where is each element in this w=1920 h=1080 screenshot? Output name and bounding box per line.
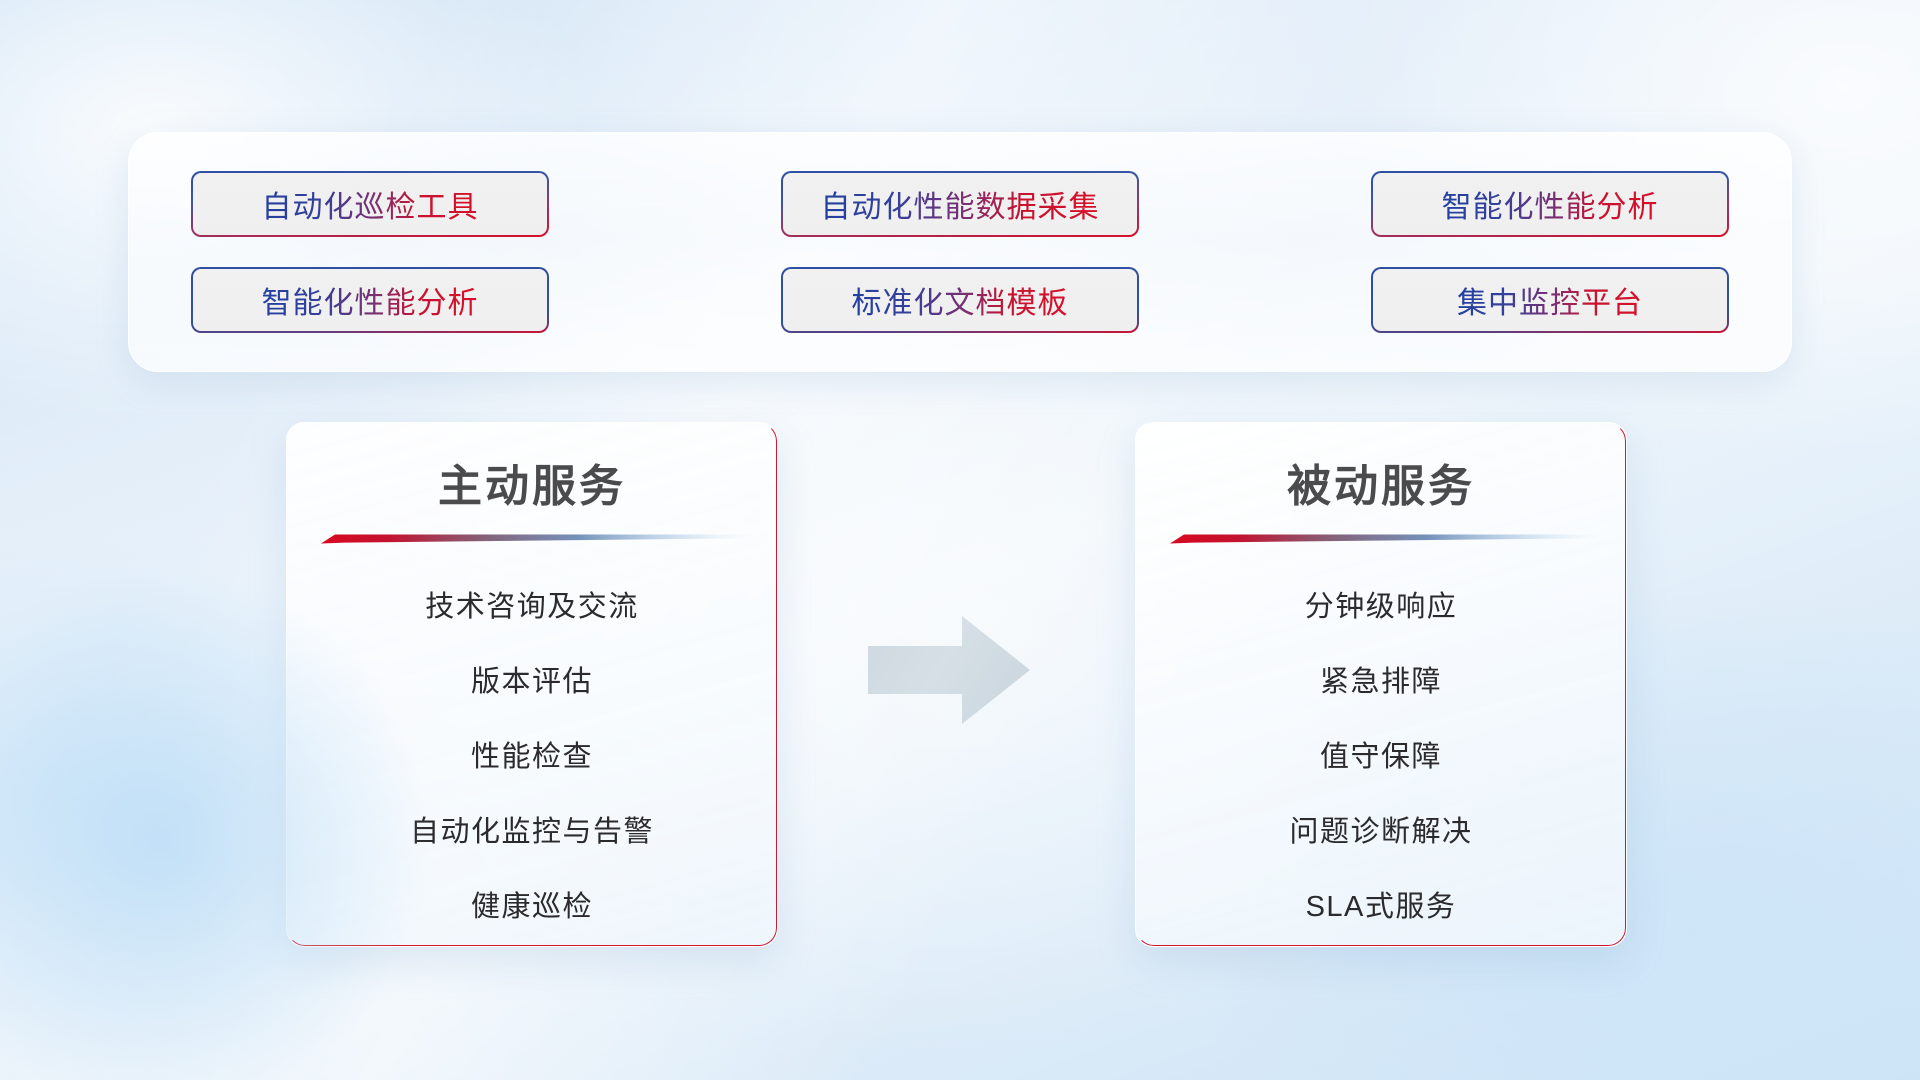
list-item: 性能检查 bbox=[471, 730, 593, 785]
capability-pill-label: 智能化性能分析 bbox=[262, 278, 479, 322]
card-title: 被动服务 bbox=[1170, 463, 1592, 511]
list-item: 自动化监控与告警 bbox=[410, 805, 654, 860]
capability-row-2: 智能化性能分析 标准化文档模板 集中监控平台 bbox=[191, 267, 1729, 333]
list-item: 技术咨询及交流 bbox=[425, 580, 639, 635]
capability-row-1: 自动化巡检工具 自动化性能数据采集 智能化性能分析 bbox=[191, 171, 1729, 237]
capability-pill-standard-document-template[interactable]: 标准化文档模板 bbox=[781, 267, 1139, 333]
arrow-right-icon bbox=[866, 612, 1032, 728]
capability-pill-automated-inspection-tool[interactable]: 自动化巡检工具 bbox=[191, 171, 549, 237]
list-item: 健康巡检 bbox=[471, 880, 593, 935]
list-item: 问题诊断解决 bbox=[1289, 805, 1472, 860]
capability-pill-intelligent-performance-analysis[interactable]: 智能化性能分析 bbox=[1371, 171, 1729, 237]
title-divider bbox=[321, 533, 751, 544]
service-list-proactive: 技术咨询及交流 版本评估 性能检查 自动化监控与告警 健康巡检 bbox=[321, 580, 743, 935]
list-item: 版本评估 bbox=[471, 655, 593, 710]
capability-pill-label: 集中监控平台 bbox=[1457, 278, 1643, 322]
capability-pill-label: 标准化文档模板 bbox=[852, 278, 1069, 322]
slide-canvas: 自动化巡检工具 自动化性能数据采集 智能化性能分析 智能化性能分析 标准化文档模… bbox=[0, 0, 1920, 1080]
capability-pill-label: 自动化巡检工具 bbox=[262, 182, 479, 226]
list-item: 分钟级响应 bbox=[1305, 580, 1458, 635]
service-card-reactive: 被动服务 分钟级响应 紧急排障 值守保障 bbox=[1135, 422, 1627, 947]
capability-panel: 自动化巡检工具 自动化性能数据采集 智能化性能分析 智能化性能分析 标准化文档模… bbox=[128, 132, 1792, 372]
capability-pill-centralized-monitoring-platform[interactable]: 集中监控平台 bbox=[1371, 267, 1729, 333]
capability-pill-label: 智能化性能分析 bbox=[1442, 182, 1659, 226]
capability-pill-intelligent-performance-analysis-2[interactable]: 智能化性能分析 bbox=[191, 267, 549, 333]
capability-pill-label: 自动化性能数据采集 bbox=[821, 182, 1100, 226]
service-list-reactive: 分钟级响应 紧急排障 值守保障 问题诊断解决 SLA式服务 bbox=[1170, 580, 1592, 935]
title-divider bbox=[1170, 533, 1600, 544]
capability-pill-automated-performance-data-collection[interactable]: 自动化性能数据采集 bbox=[781, 171, 1139, 237]
service-card-proactive: 主动服务 技术咨询及交流 版本评估 性能检查 bbox=[286, 422, 778, 947]
list-item: 紧急排障 bbox=[1320, 655, 1442, 710]
list-item: SLA式服务 bbox=[1306, 880, 1457, 935]
card-title: 主动服务 bbox=[321, 463, 743, 511]
list-item: 值守保障 bbox=[1320, 730, 1442, 785]
